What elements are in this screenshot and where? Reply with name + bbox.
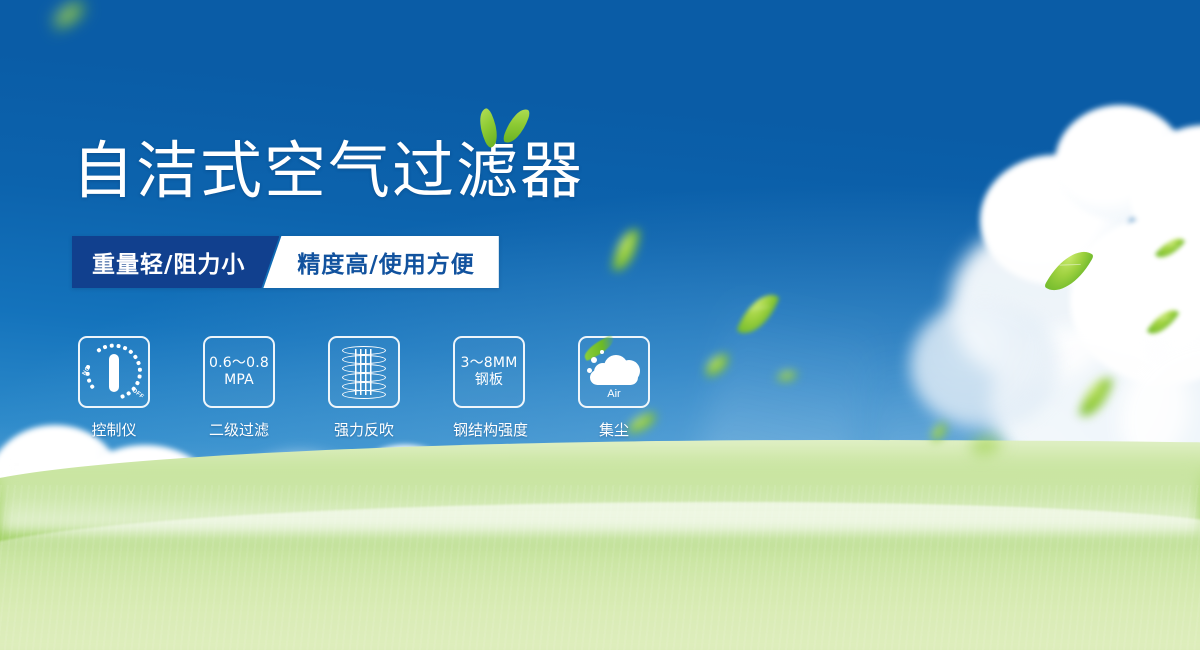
subtitle-segment-left: 重量轻/阻力小 xyxy=(72,236,279,288)
feature-item-two-stage-filter[interactable]: 0.6～0.8 MPA 二级过滤 xyxy=(203,336,275,440)
page-title: 自洁式空气过滤器 xyxy=(72,140,584,202)
title-block: 自洁式空气过滤器 xyxy=(72,140,584,202)
feature-item-controller[interactable]: NO OFF 控制仪 xyxy=(78,336,150,440)
feature-item-dust-collection[interactable]: Air 集尘 xyxy=(578,336,650,440)
product-banner: 自洁式空气过滤器 重量轻/阻力小 精度高/使用方便 xyxy=(0,0,1200,650)
feature-label: 钢结构强度 xyxy=(453,419,525,440)
feature-icon-box: NO OFF xyxy=(78,336,150,408)
gauge-label-on: NO xyxy=(82,365,92,377)
feature-icon-box xyxy=(328,336,400,408)
gauge-needle xyxy=(109,354,119,392)
feature-row: NO OFF 控制仪 0.6～0.8 MPA 二级过滤 xyxy=(78,336,650,440)
dust-particle xyxy=(587,368,592,373)
feature-label: 强力反吹 xyxy=(328,419,400,440)
sprout-leaves-icon xyxy=(468,105,538,147)
subtitle-bar: 重量轻/阻力小 精度高/使用方便 xyxy=(72,236,499,288)
air-label: Air xyxy=(586,388,642,400)
banner-content: 自洁式空气过滤器 重量轻/阻力小 精度高/使用方便 xyxy=(0,0,1200,650)
feature-icon-box: 0.6～0.8 MPA xyxy=(203,336,275,408)
dust-particle xyxy=(600,350,604,354)
feature-item-steel-strength[interactable]: 3～8MM 钢板 钢结构强度 xyxy=(453,336,525,440)
feature-label: 集尘 xyxy=(578,419,650,440)
subtitle-segment-right: 精度高/使用方便 xyxy=(263,236,498,288)
pressure-value: 0.6～0.8 xyxy=(209,355,269,371)
feature-label: 控制仪 xyxy=(78,419,150,440)
steel-material: 钢板 xyxy=(475,372,503,388)
pressure-icon: 0.6～0.8 MPA xyxy=(209,355,269,389)
pressure-unit: MPA xyxy=(224,372,254,388)
feature-icon-box: 3～8MM 钢板 xyxy=(453,336,525,408)
gauge-icon: NO OFF xyxy=(83,341,145,403)
steel-plate-icon: 3～8MM 钢板 xyxy=(461,355,518,389)
feature-label: 二级过滤 xyxy=(203,419,275,440)
dust-particle xyxy=(591,357,597,363)
air-cloud-icon: Air xyxy=(586,347,642,397)
gauge-label-off: OFF xyxy=(130,388,144,401)
coil-icon xyxy=(341,346,387,398)
feature-item-back-blow[interactable]: 强力反吹 xyxy=(328,336,400,440)
steel-thickness: 3～8MM xyxy=(461,355,518,371)
feature-icon-box: Air xyxy=(578,336,650,408)
